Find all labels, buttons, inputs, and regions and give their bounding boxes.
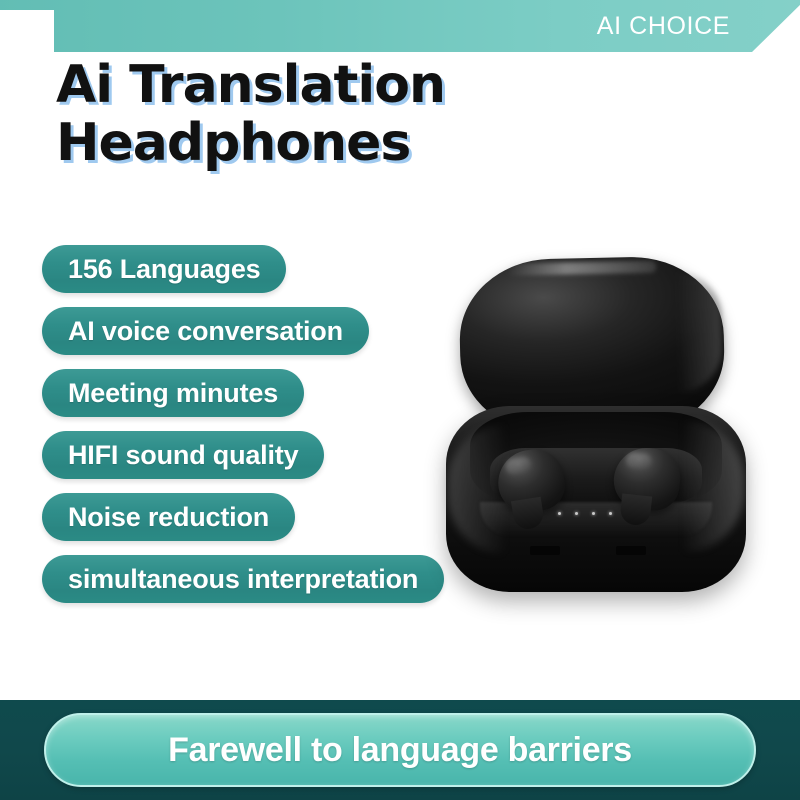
page-title-line-1: Ai Translation [56,56,676,114]
lid-highlight [506,261,656,276]
led-dot-icon [575,512,578,515]
product-ad-poster: AI CHOICE Ai Translation Headphones 156 … [0,0,800,800]
case-hinge-left [530,546,560,555]
charging-case-base [446,406,746,592]
feature-pill-label: 156 Languages [68,256,260,283]
led-dot-icon [609,512,612,515]
feature-pill-label: Meeting minutes [68,380,278,407]
feature-pill-simultaneous-interpretation: simultaneous interpretation [42,555,444,603]
feature-pill-languages: 156 Languages [42,245,286,293]
feature-pill-label: simultaneous interpretation [68,566,418,593]
lid-edge-shading [676,271,723,392]
page-title-line-2: Headphones [56,114,676,172]
feature-pill-label: HIFI sound quality [68,442,298,469]
tagline-label: Farewell to language barriers [168,733,632,767]
top-banner: AI CHOICE [0,0,800,52]
feature-pill-label: Noise reduction [68,504,269,531]
earbud-highlight [504,456,532,476]
product-image-earbuds-case [446,258,766,598]
case-left-highlight [448,424,506,554]
case-hinge-right [616,546,646,555]
feature-pill-ai-voice-conversation: AI voice conversation [42,307,369,355]
feature-pill-meeting-minutes: Meeting minutes [42,369,304,417]
bottom-banner: Farewell to language barriers [0,700,800,800]
earbud-highlight [625,452,653,471]
battery-led-indicator-row [558,512,612,515]
page-title: Ai Translation Headphones [56,56,676,172]
led-dot-icon [592,512,595,515]
feature-pill-label: AI voice conversation [68,318,343,345]
feature-pill-hifi-sound-quality: HIFI sound quality [42,431,324,479]
feature-pill-noise-reduction: Noise reduction [42,493,295,541]
case-right-highlight [682,420,744,552]
ai-choice-badge-label: AI CHOICE [597,14,730,39]
feature-pill-list: 156 Languages AI voice conversation Meet… [42,245,444,603]
led-dot-icon [558,512,561,515]
tagline-pill: Farewell to language barriers [44,713,756,787]
